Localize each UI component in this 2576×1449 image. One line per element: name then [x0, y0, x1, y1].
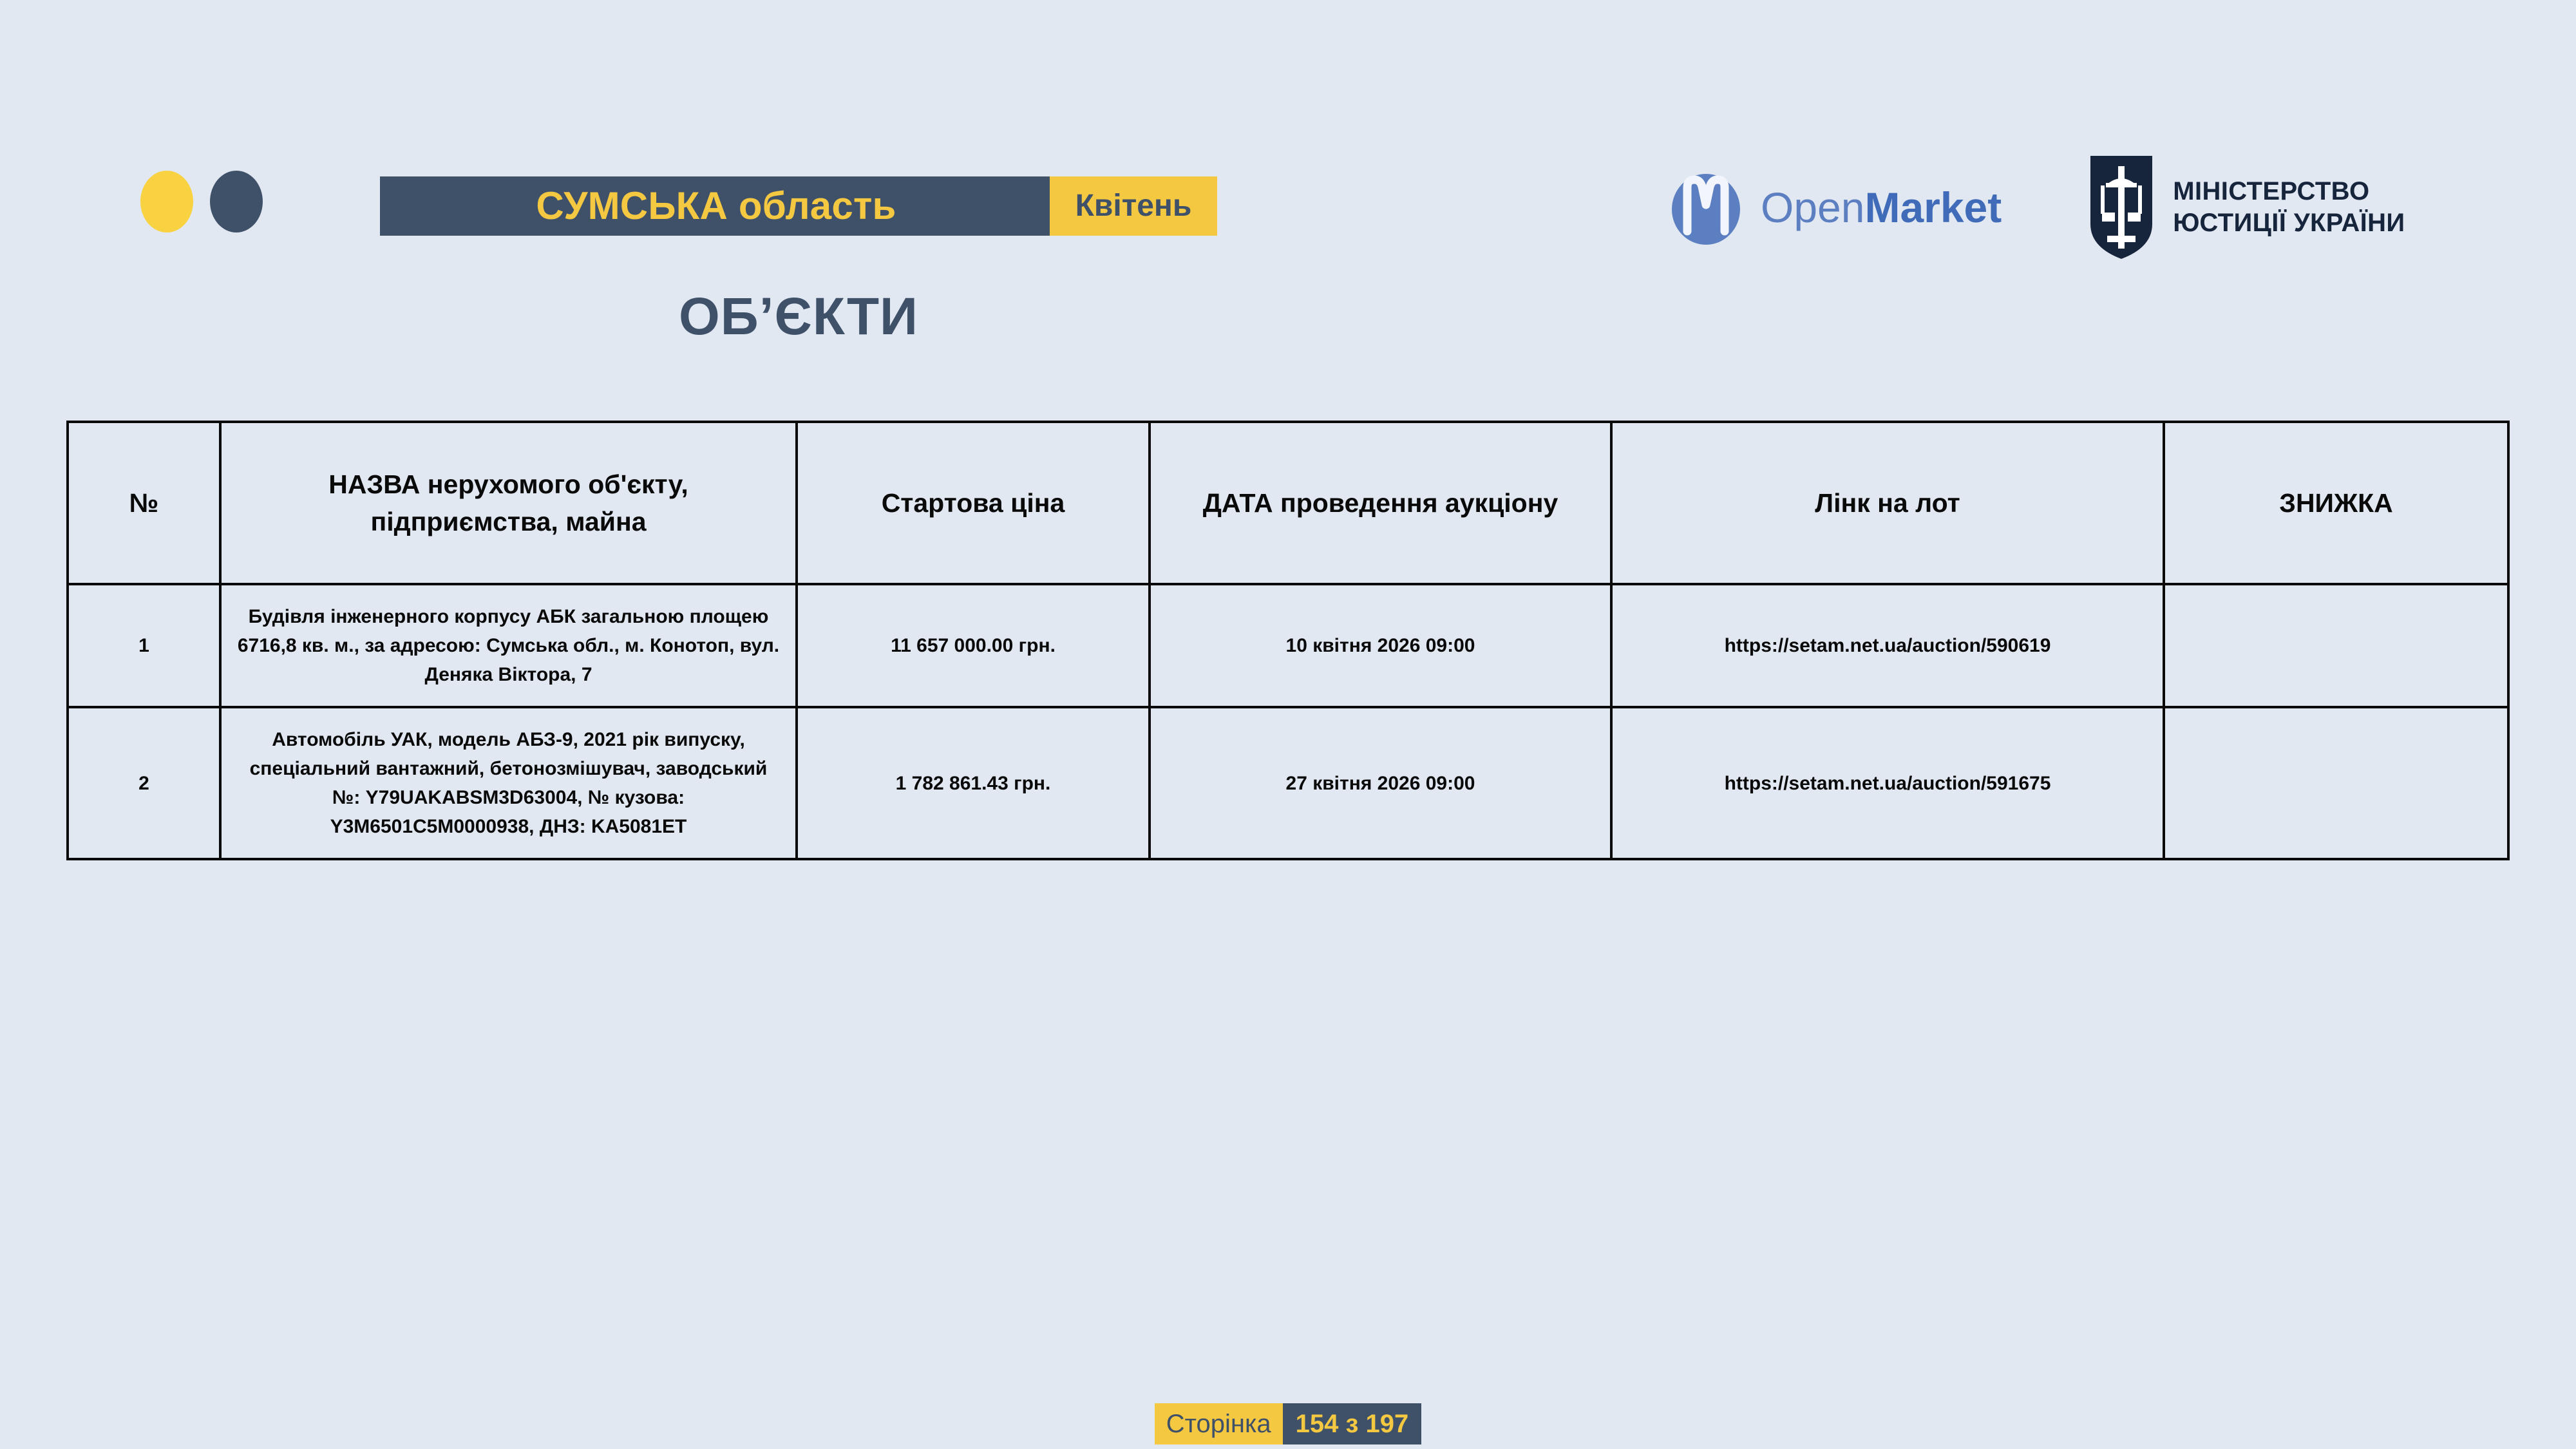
column-header-date: ДАТА проведення аукціону: [1150, 422, 1611, 584]
cell-discount: [2164, 584, 2508, 707]
openmarket-wordmark: OpenMarket: [1761, 186, 2002, 229]
navy-dot: [210, 171, 263, 232]
slide-root: СУМСЬКА область Квітень OpenMarket: [0, 0, 2576, 1449]
cell-number: 2: [68, 707, 220, 859]
region-month-badge: СУМСЬКА область Квітень: [380, 176, 1217, 236]
cell-date: 27 квітня 2026 09:00: [1150, 707, 1611, 859]
ministry-wordmark: МІНІСТЕРСТВО ЮСТИЦІЇ УКРАЇНИ: [2173, 176, 2405, 239]
cell-name: Автомобіль УАК, модель АБЗ-9, 2021 рік в…: [220, 707, 797, 859]
table-header-row: № НАЗВА нерухомого об'єкту, підприємства…: [68, 422, 2508, 584]
month-label: Квітень: [1050, 176, 1217, 236]
yellow-dot: [140, 171, 193, 232]
ministry-of-justice-shield-icon: [2088, 153, 2155, 261]
ministry-logo: МІНІСТЕРСТВО ЮСТИЦІЇ УКРАЇНИ: [2088, 153, 2405, 261]
footer-pager: Сторінка 154 з 197: [0, 1403, 2576, 1444]
column-header-discount: ЗНИЖКА: [2164, 422, 2508, 584]
openmarket-word-market: Market: [1864, 184, 2002, 231]
lots-table-container: № НАЗВА нерухомого об'єкту, підприємства…: [66, 421, 2507, 860]
cell-discount: [2164, 707, 2508, 859]
decorative-dots: [140, 171, 263, 232]
column-header-name: НАЗВА нерухомого об'єкту, підприємства, …: [220, 422, 797, 584]
openmarket-word-open: Open: [1761, 184, 1864, 231]
cell-price: 11 657 000.00 грн.: [797, 584, 1150, 707]
openmarket-m-icon: [1668, 169, 1744, 245]
column-header-price: Стартова ціна: [797, 422, 1150, 584]
column-header-number: №: [68, 422, 220, 584]
cell-date: 10 квітня 2026 09:00: [1150, 584, 1611, 707]
cell-price: 1 782 861.43 грн.: [797, 707, 1150, 859]
region-name-label: СУМСЬКА область: [380, 176, 1050, 236]
table-row: 2 Автомобіль УАК, модель АБЗ-9, 2021 рік…: [68, 707, 2508, 859]
cell-lot-link[interactable]: https://setam.net.ua/auction/590619: [1611, 584, 2164, 707]
lots-table: № НАЗВА нерухомого об'єкту, підприємства…: [66, 421, 2510, 860]
cell-number: 1: [68, 584, 220, 707]
logo-group: OpenMarket МІНІСТЕРСТВО ЮСТИЦІЇ УКР: [1668, 153, 2405, 261]
cell-name: Будівля інженерного корпусу АБК загально…: [220, 584, 797, 707]
pager-badge: Сторінка 154 з 197: [1155, 1403, 1421, 1444]
column-header-link: Лінк на лот: [1611, 422, 2164, 584]
page-title: ОБ’ЄКТИ: [0, 287, 1597, 347]
pager-value: 154 з 197: [1283, 1403, 1422, 1444]
ministry-line-2: ЮСТИЦІЇ УКРАЇНИ: [2173, 207, 2405, 239]
ministry-line-1: МІНІСТЕРСТВО: [2173, 176, 2405, 207]
openmarket-logo: OpenMarket: [1668, 169, 2002, 245]
cell-lot-link[interactable]: https://setam.net.ua/auction/591675: [1611, 707, 2164, 859]
table-row: 1 Будівля інженерного корпусу АБК загаль…: [68, 584, 2508, 707]
pager-label: Сторінка: [1155, 1403, 1283, 1444]
